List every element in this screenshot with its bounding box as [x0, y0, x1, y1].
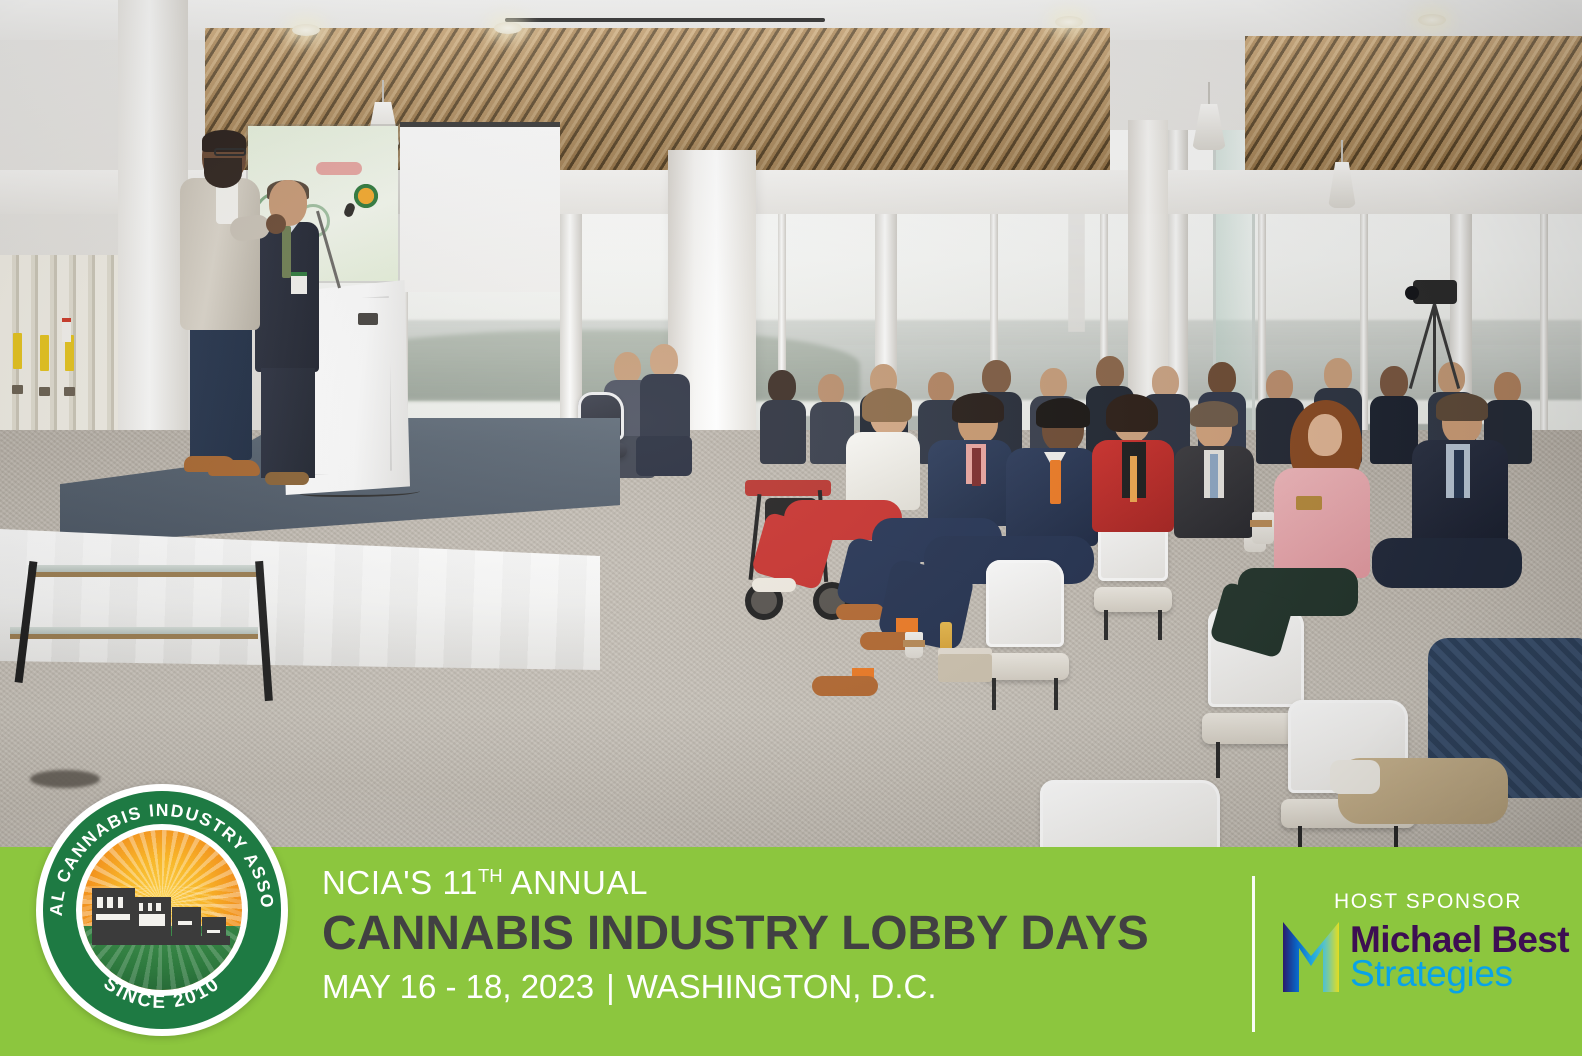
light-track	[505, 18, 825, 22]
ncia-seal-logo: NATIONAL CANNABIS INDUSTRY ASSOCIATION S…	[36, 784, 288, 1036]
pendant-light	[1192, 82, 1226, 152]
sponsor-name-secondary: Strategies	[1350, 956, 1569, 992]
downlight	[494, 22, 522, 34]
speaker-primary	[178, 130, 260, 480]
michael-best-strategies-logo: Michael Best Strategies	[1283, 922, 1573, 992]
event-photo-card: NCIA'S 11TH ANNUAL CANNABIS INDUSTRY LOB…	[0, 0, 1582, 1056]
chair	[986, 560, 1064, 710]
banner-eyebrow-ordinal: TH	[478, 865, 503, 886]
projection-panel	[400, 122, 560, 292]
podium-plate	[358, 313, 378, 325]
seal-arc-top: NATIONAL CANNABIS INDUSTRY ASSOCIATION	[36, 784, 278, 917]
banner-title: CANNABIS INDUSTRY LOBBY DAYS	[322, 910, 1149, 958]
exit-sign	[62, 318, 71, 342]
host-sponsor-label: HOST SPONSOR	[1283, 890, 1573, 914]
banner-date: MAY 16 - 18, 2023	[322, 968, 594, 1005]
attendee-gray-suit	[1172, 406, 1282, 586]
downlight	[292, 24, 320, 36]
seal-arc-bottom: SINCE 2010	[99, 973, 224, 1013]
attendee-plaid-suit	[1428, 638, 1582, 878]
banner-eyebrow: NCIA'S 11TH ANNUAL	[322, 866, 1149, 899]
host-sponsor-block: HOST SPONSOR Michael Best Strategies	[1283, 890, 1573, 992]
pendant-light	[1328, 140, 1356, 198]
coffee-cup	[905, 632, 923, 658]
event-banner-text: NCIA'S 11TH ANNUAL CANNABIS INDUSTRY LOB…	[322, 866, 1149, 1003]
downlight	[1418, 14, 1446, 26]
michael-best-mark-icon	[1283, 922, 1339, 992]
attendee-pink-blazer	[1268, 400, 1418, 670]
banner-location: WASHINGTON, D.C.	[627, 968, 937, 1005]
video-camera-tripod	[1405, 280, 1465, 390]
banner-divider	[1252, 876, 1255, 1032]
seal-text: NATIONAL CANNABIS INDUSTRY ASSOCIATION S…	[36, 784, 288, 1036]
michael-best-wordmark: Michael Best Strategies	[1350, 922, 1569, 991]
attendee-left-aisle-2	[640, 344, 720, 484]
attendee-dark-suit-right	[1412, 398, 1562, 658]
banner-eyebrow-suffix: ANNUAL	[503, 864, 648, 901]
banner-separator: |	[594, 968, 627, 1005]
tote-bag	[938, 648, 992, 682]
banner-subline: MAY 16 - 18, 2023|WASHINGTON, D.C.	[322, 970, 1149, 1003]
stage-steps	[10, 565, 280, 685]
banner-eyebrow-prefix: NCIA'S 11	[322, 864, 478, 901]
downlight	[1055, 16, 1083, 28]
